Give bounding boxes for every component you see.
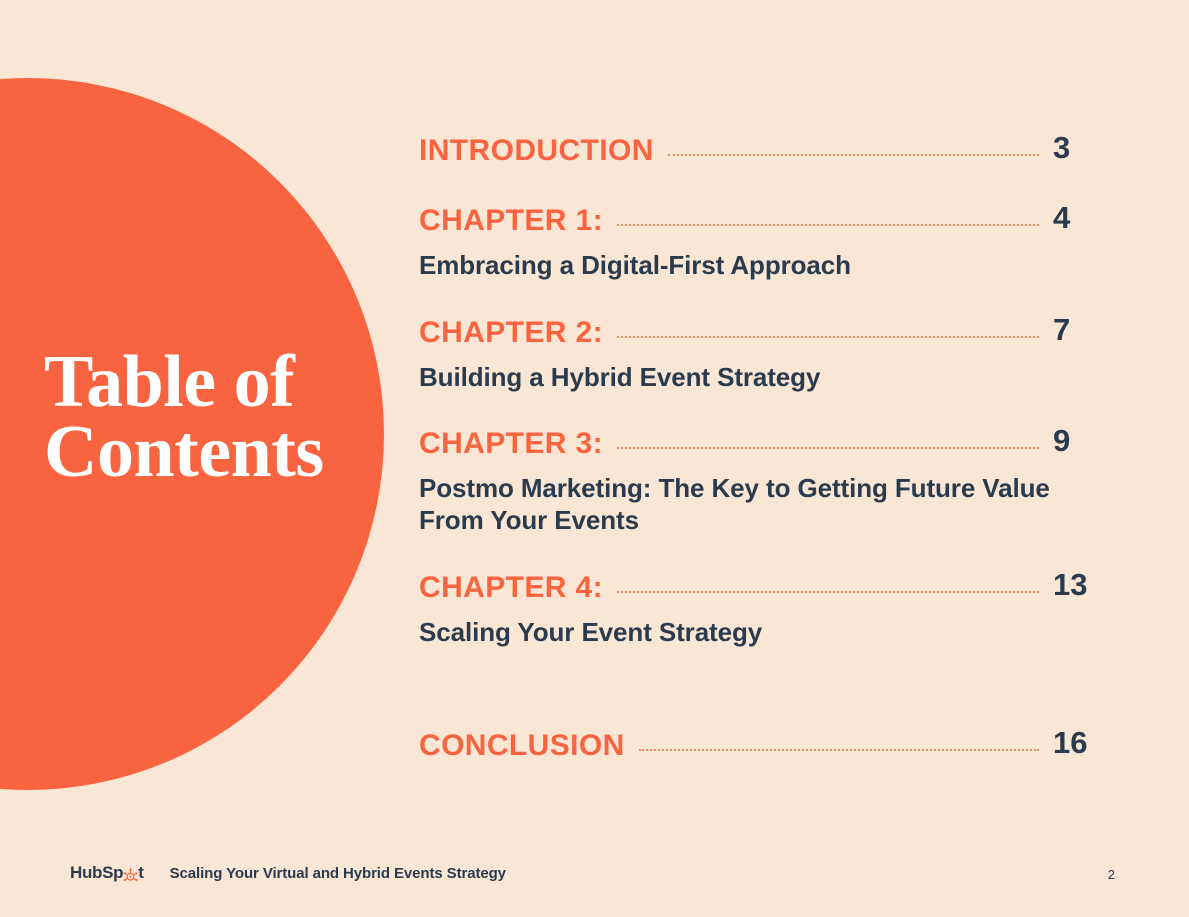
toc-entry-chapter-1[interactable]: CHAPTER 1: 4 Embracing a Digital-First A… xyxy=(419,202,1109,282)
hubspot-sprocket-icon xyxy=(123,868,138,883)
toc-entry-row: CHAPTER 1: 4 xyxy=(419,202,1109,238)
toc-entry-subtitle: Embracing a Digital-First Approach xyxy=(419,250,1059,282)
toc-leader-dots xyxy=(617,447,1039,449)
toc-entry-chapter-4[interactable]: CHAPTER 4: 13 Scaling Your Event Strateg… xyxy=(419,569,1109,649)
toc-entry-row: INTRODUCTION 3 xyxy=(419,132,1109,168)
footer-document-title: Scaling Your Virtual and Hybrid Events S… xyxy=(170,865,506,882)
toc-entry-heading: CHAPTER 4: xyxy=(419,571,603,605)
toc-entry-heading: CONCLUSION xyxy=(419,729,625,763)
page-footer: HubSp xyxy=(0,855,1189,917)
toc-entry-subtitle: Scaling Your Event Strategy xyxy=(419,617,1059,649)
toc-entry-page-number: 13 xyxy=(1053,567,1109,603)
toc-entry-page-number: 7 xyxy=(1053,312,1109,348)
toc-entry-row: CHAPTER 4: 13 xyxy=(419,569,1109,605)
toc-leader-dots xyxy=(617,224,1039,226)
toc-entry-row: CHAPTER 2: 7 xyxy=(419,314,1109,350)
toc-leader-dots xyxy=(668,154,1039,156)
toc-entry-page-number: 3 xyxy=(1053,130,1109,166)
toc-entry-heading: CHAPTER 1: xyxy=(419,204,603,238)
toc-entry-heading: CHAPTER 2: xyxy=(419,316,603,350)
hubspot-logo: HubSp xyxy=(70,863,144,883)
toc-entry-row: CONCLUSION 16 xyxy=(419,727,1109,763)
toc-entry-list: INTRODUCTION 3 CHAPTER 1: 4 Embracing a … xyxy=(419,132,1109,763)
toc-entry-subtitle: Building a Hybrid Event Strategy xyxy=(419,362,1059,394)
toc-page: Table of Contents INTRODUCTION 3 CHAPTER… xyxy=(0,0,1189,917)
toc-leader-dots xyxy=(639,749,1039,751)
toc-entry-page-number: 9 xyxy=(1053,423,1109,459)
hubspot-logo-text-pre: HubSp xyxy=(70,863,123,883)
toc-entry-row: CHAPTER 3: 9 xyxy=(419,425,1109,461)
footer-left-group: HubSp xyxy=(70,863,506,883)
toc-entry-heading: CHAPTER 3: xyxy=(419,427,603,461)
hubspot-logo-text-post: t xyxy=(138,863,143,883)
page-title: Table of Contents xyxy=(44,348,374,487)
toc-entry-conclusion[interactable]: CONCLUSION 16 xyxy=(419,727,1109,763)
footer-page-number: 2 xyxy=(1108,867,1115,882)
toc-entry-chapter-3[interactable]: CHAPTER 3: 9 Postmo Marketing: The Key t… xyxy=(419,425,1109,536)
toc-leader-dots xyxy=(617,591,1039,593)
toc-leader-dots xyxy=(617,336,1039,338)
toc-entry-chapter-2[interactable]: CHAPTER 2: 7 Building a Hybrid Event Str… xyxy=(419,314,1109,394)
toc-entry-introduction[interactable]: INTRODUCTION 3 xyxy=(419,132,1109,168)
toc-entry-subtitle: Postmo Marketing: The Key to Getting Fut… xyxy=(419,473,1059,536)
toc-entry-heading: INTRODUCTION xyxy=(419,134,654,168)
toc-entry-page-number: 4 xyxy=(1053,200,1109,236)
toc-entry-page-number: 16 xyxy=(1053,725,1109,761)
